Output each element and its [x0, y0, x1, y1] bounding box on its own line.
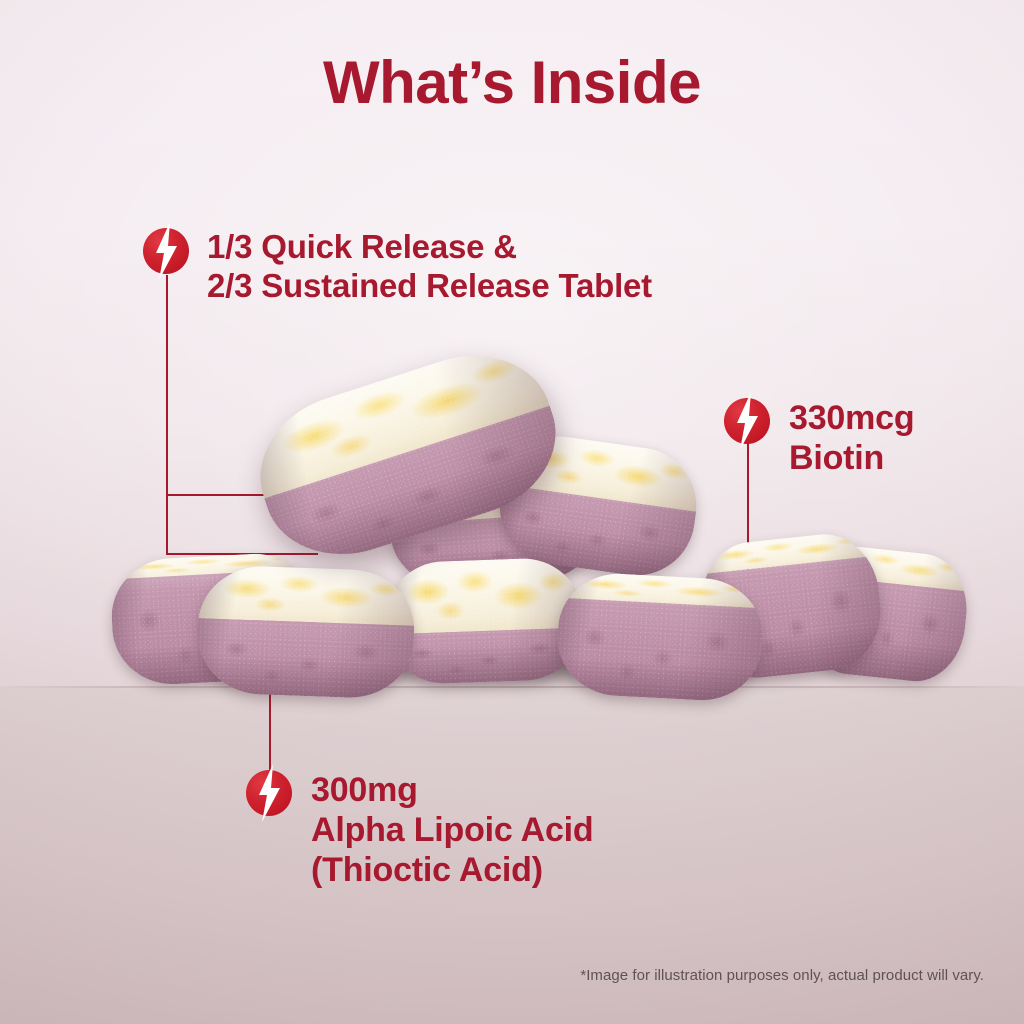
callout-alpha-lipoic-acid-text: 300mg Alpha Lipoic Acid (Thioctic Acid)	[311, 770, 593, 890]
callout-release-profile-text: 1/3 Quick Release & 2/3 Sustained Releas…	[207, 228, 652, 306]
tablet	[555, 571, 765, 704]
infographic-canvas: What’s Inside 1/3 Quick Release & 2/3 Su…	[0, 0, 1024, 1024]
callout-biotin-text: 330mcg Biotin	[789, 398, 914, 478]
lightning-bolt-icon	[256, 764, 282, 822]
lightning-bolt-icon	[153, 222, 179, 280]
badge-alpha-lipoic-acid[interactable]	[246, 770, 292, 816]
badge-release-profile[interactable]	[143, 228, 189, 274]
leader-line-release-stem	[166, 275, 168, 555]
tablet	[196, 564, 416, 699]
disclaimer-text: *Image for illustration purposes only, a…	[580, 967, 984, 984]
lightning-bolt-icon	[734, 392, 760, 450]
page-title: What’s Inside	[0, 48, 1024, 117]
badge-biotin[interactable]	[724, 398, 770, 444]
